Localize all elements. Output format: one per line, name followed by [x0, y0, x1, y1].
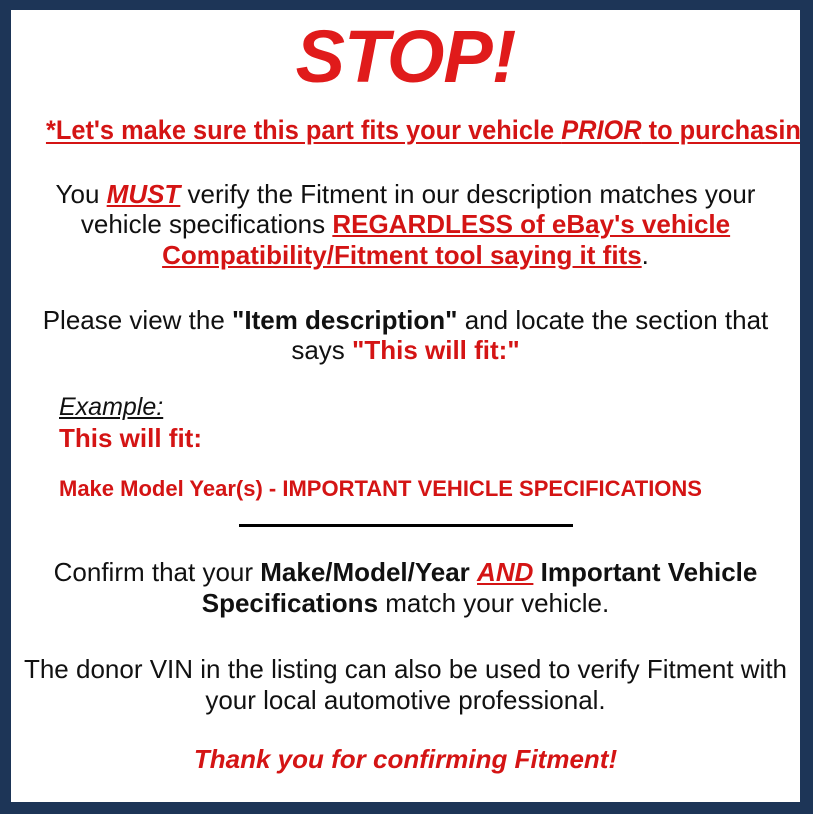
example-fit-line: This will fit:: [59, 424, 788, 454]
notice-content: STOP! *Let's make sure this part fits yo…: [11, 10, 800, 802]
subtitle-text-after: to purchasing*: [642, 115, 813, 145]
subtitle-text-before: *Let's make sure this part fits your veh…: [46, 115, 561, 145]
subtitle-emphasis-prior: PRIOR: [561, 115, 641, 145]
and-emphasis: AND: [477, 557, 533, 587]
confirm-text-3: [533, 557, 540, 587]
must-text-3: .: [642, 240, 649, 270]
fitment-notice-card: STOP! *Let's make sure this part fits yo…: [0, 0, 813, 814]
horizontal-rule-divider: [239, 524, 573, 527]
example-label: Example:: [59, 393, 163, 422]
divider-wrapper: [23, 524, 788, 527]
make-model-year-emphasis: Make/Model/Year: [260, 557, 470, 587]
confirm-text-1: Confirm that your: [54, 557, 261, 587]
paragraph-must-verify: You MUST verify the Fitment in our descr…: [23, 179, 788, 271]
this-will-fit-emphasis: "This will fit:": [352, 335, 520, 365]
paragraph-item-description: Please view the "Item description" and l…: [23, 305, 788, 366]
example-spec-line: Make Model Year(s) - IMPORTANT VEHICLE S…: [59, 476, 788, 501]
thanks-message: Thank you for confirming Fitment!: [23, 744, 788, 775]
must-emphasis: MUST: [107, 179, 181, 209]
paragraph-donor-vin: The donor VIN in the listing can also be…: [23, 654, 788, 715]
example-label-row: Example:: [59, 393, 788, 422]
stop-heading: STOP!: [23, 10, 788, 92]
view-text-1: Please view the: [43, 305, 232, 335]
item-description-emphasis: "Item description": [232, 305, 457, 335]
confirm-text-2: [470, 557, 477, 587]
confirm-text-4: match your vehicle.: [378, 588, 609, 618]
subtitle-banner: *Let's make sure this part fits your veh…: [46, 116, 765, 146]
paragraph-confirm: Confirm that your Make/Model/Year AND Im…: [23, 557, 788, 618]
example-block: Example: This will fit: Make Model Year(…: [23, 393, 788, 501]
must-text-1: You: [56, 179, 107, 209]
